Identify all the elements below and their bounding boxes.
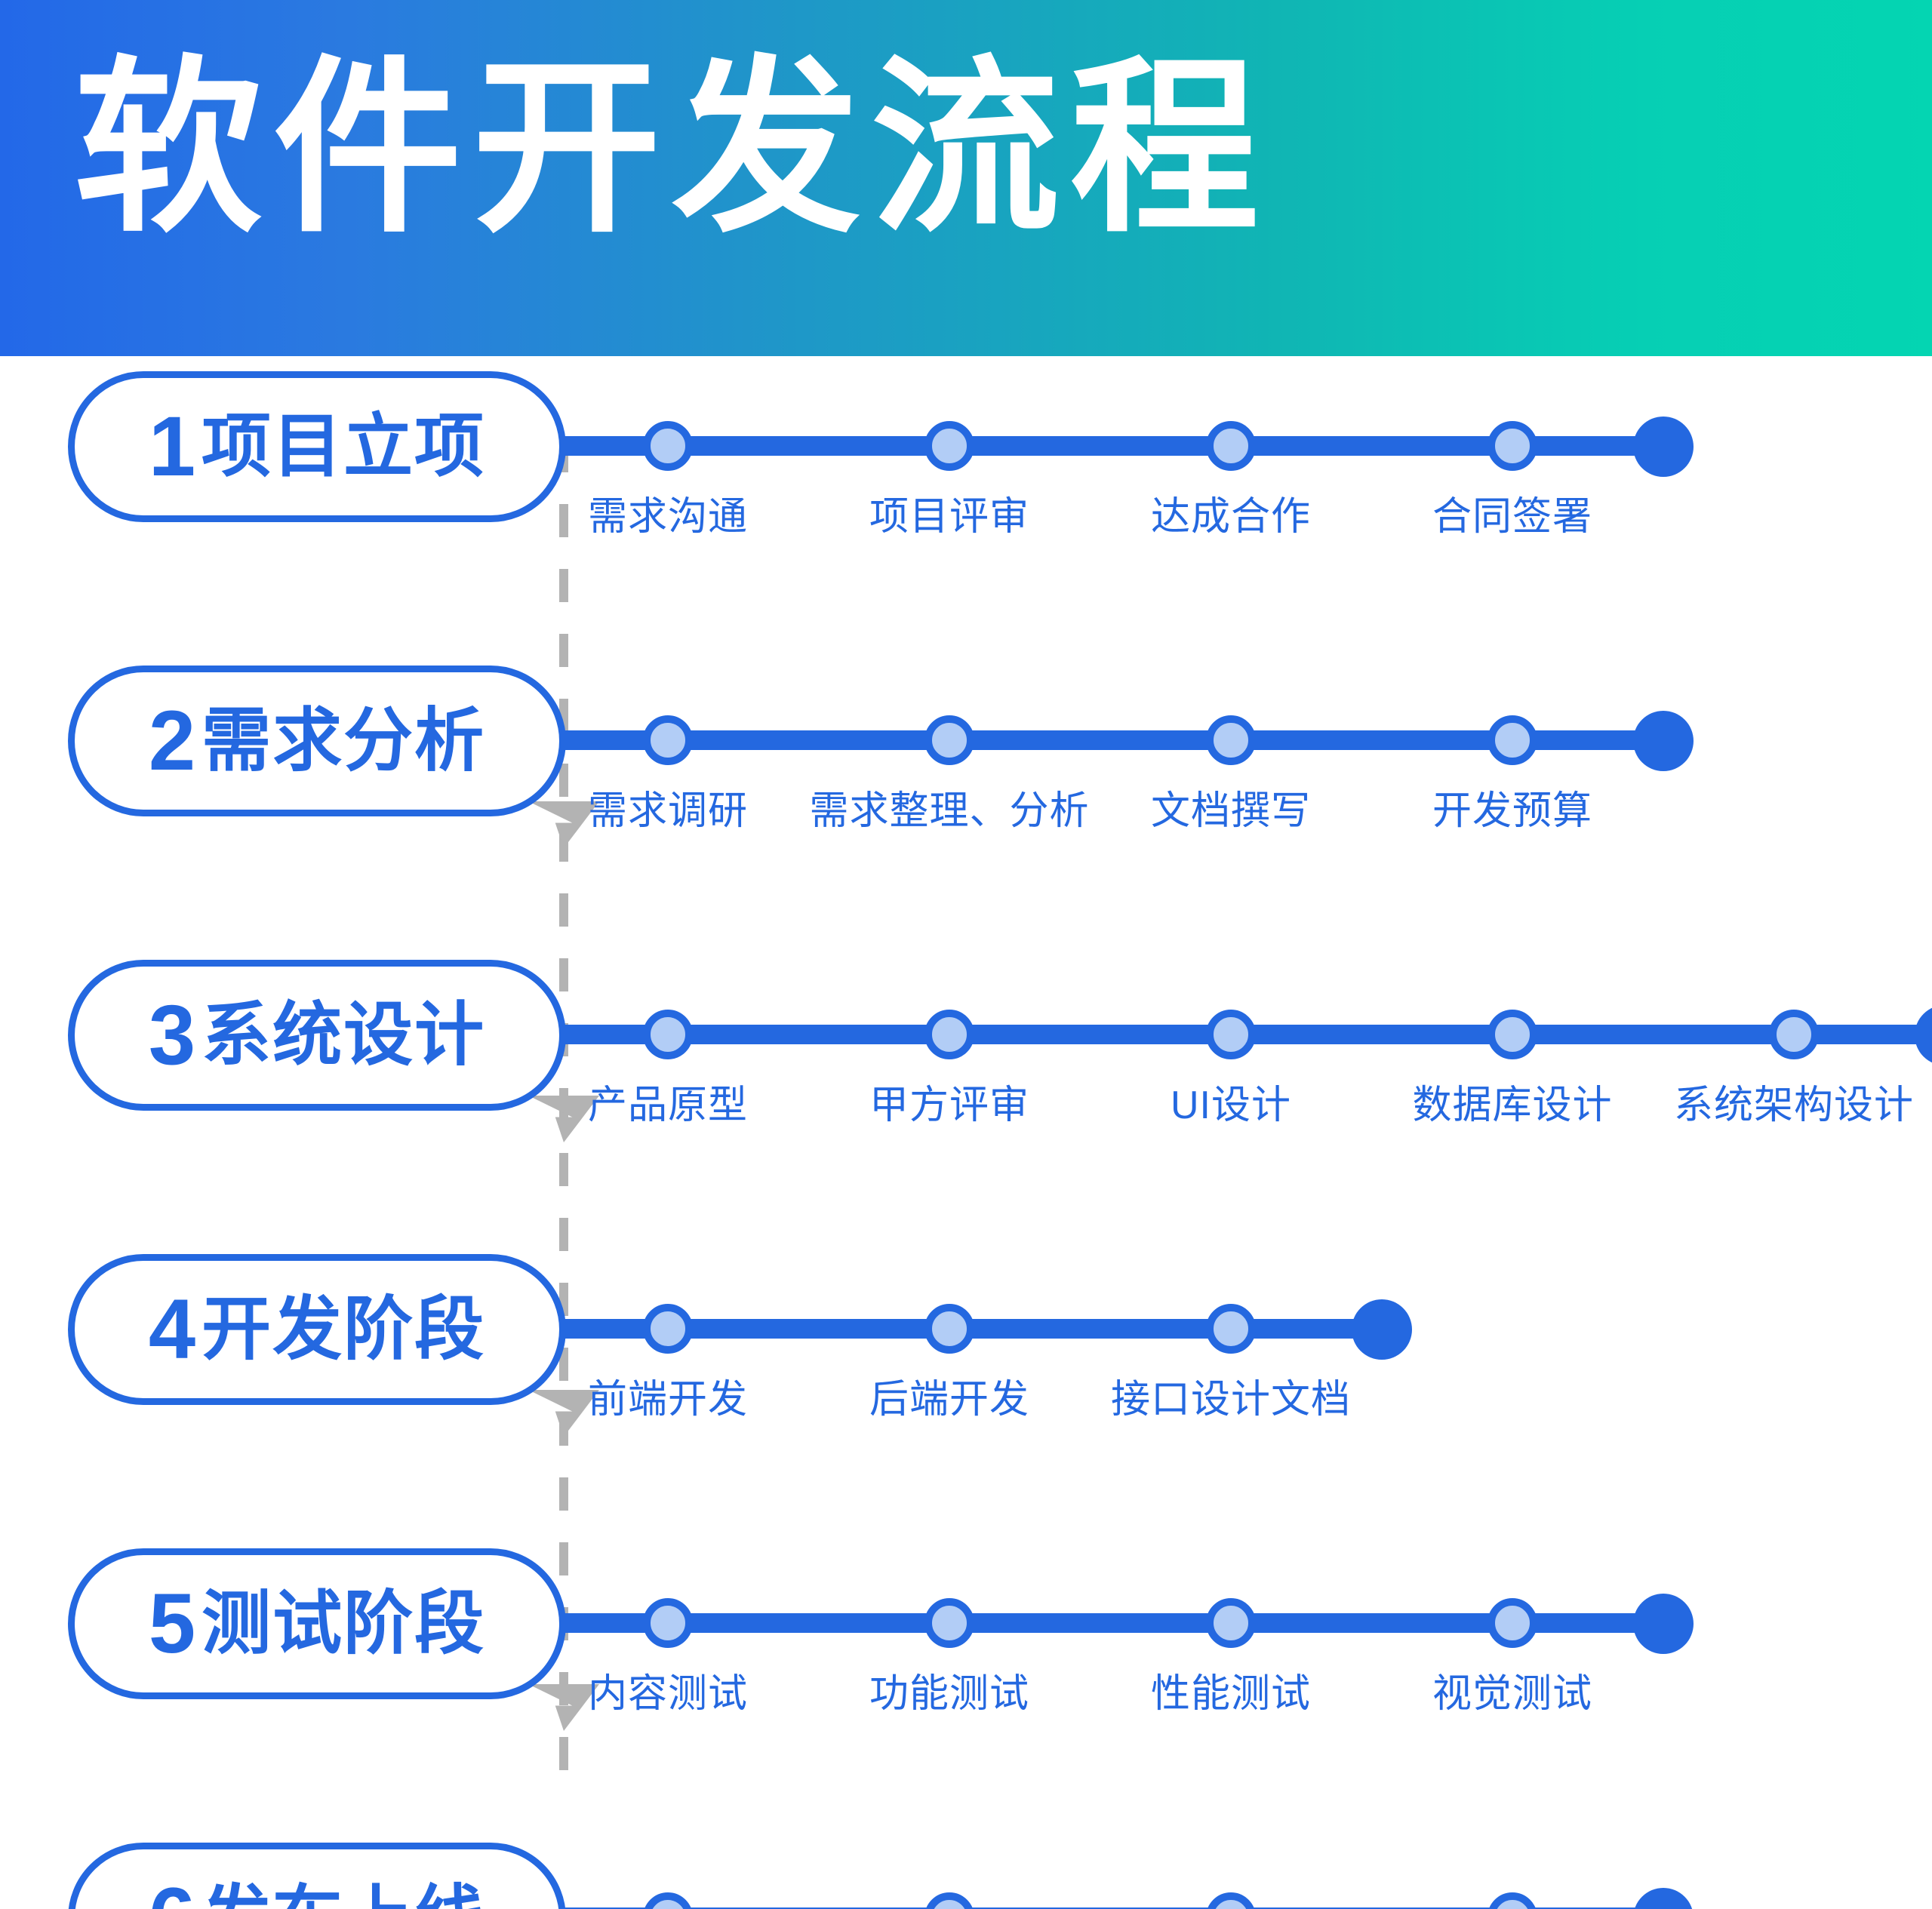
stage-pill-5[interactable]: 5测试阶段: [68, 1548, 566, 1699]
stage-pill-3[interactable]: 3系统设计: [68, 960, 566, 1111]
stage-number: 6: [149, 1876, 195, 1909]
stage-pill-4[interactable]: 4开发阶段: [68, 1254, 566, 1405]
step-label: 需求沟通: [588, 484, 748, 541]
step-node[interactable]: [1206, 1304, 1256, 1354]
step-node[interactable]: [643, 1892, 693, 1909]
track-end-node[interactable]: [1633, 417, 1694, 477]
step-label: 视觉测试: [1432, 1662, 1592, 1718]
step-node[interactable]: [1487, 1598, 1537, 1648]
step-label: 性能测试: [1151, 1662, 1311, 1718]
step-label: 需求整理、分析: [809, 779, 1089, 835]
header-banner: 软件开发流程: [0, 0, 1932, 356]
stage-pill-6[interactable]: 6发布上线: [68, 1843, 566, 1909]
stage-number: 1: [149, 404, 195, 489]
track-end-node[interactable]: [1352, 1299, 1412, 1360]
stage-label: 需求分析: [202, 706, 485, 776]
step-label: 产品原型: [588, 1073, 748, 1130]
page-title: 软件开发流程: [74, 32, 1269, 266]
track-end-node[interactable]: [1915, 1005, 1932, 1065]
step-label: 系统架构设计: [1674, 1073, 1914, 1130]
step-label: 需求调研: [588, 779, 748, 835]
stage-pill-2[interactable]: 2需求分析: [68, 666, 566, 816]
stage-track: 需求沟通项目评审达成合作合同签署: [528, 371, 1709, 522]
step-node[interactable]: [1487, 715, 1537, 765]
step-node[interactable]: [1206, 1010, 1256, 1059]
infographic-page: 软件开发流程 1项目立项需求沟通项目评审达成合作合同签署2需求分析需求调研需求整…: [0, 0, 1932, 1909]
step-node[interactable]: [643, 1598, 693, 1648]
step-label: 甲方评审: [869, 1073, 1029, 1130]
step-label: 项目评审: [869, 484, 1029, 541]
step-label: 前端开发: [588, 1367, 748, 1424]
track-end-node[interactable]: [1633, 711, 1694, 771]
stage-number: 2: [149, 699, 195, 783]
step-node[interactable]: [1487, 1892, 1537, 1909]
flow-diagram: 1项目立项需求沟通项目评审达成合作合同签署2需求分析需求调研需求整理、分析文档撰…: [0, 356, 1932, 1909]
stage-label: 系统设计: [202, 1001, 485, 1070]
step-node[interactable]: [1206, 1598, 1256, 1648]
step-node[interactable]: [643, 421, 693, 471]
step-node[interactable]: [1206, 421, 1256, 471]
step-node[interactable]: [643, 715, 693, 765]
stage-number: 3: [149, 993, 195, 1077]
stage-number: 4: [149, 1287, 195, 1372]
step-label: 内容测试: [588, 1662, 748, 1718]
stage-track: 产品原型甲方评审UI设计数据库设计系统架构设计: [528, 960, 1932, 1111]
stage-track: 前端开发后端开发接口设计文档: [528, 1254, 1427, 1405]
stage-label: 发布上线: [202, 1883, 485, 1909]
stage-row[interactable]: 4开发阶段前端开发后端开发接口设计文档: [0, 1254, 1932, 1405]
stage-pill-1[interactable]: 1项目立项: [68, 371, 566, 522]
step-node[interactable]: [924, 1892, 974, 1909]
step-node[interactable]: [643, 1304, 693, 1354]
stage-label: 开发阶段: [202, 1295, 485, 1364]
step-node[interactable]: [924, 421, 974, 471]
track-end-node[interactable]: [1633, 1594, 1694, 1654]
stage-label: 项目立项: [202, 412, 485, 481]
step-label: 合同签署: [1432, 484, 1592, 541]
step-label: 接口设计文档: [1111, 1367, 1351, 1424]
step-label: 功能测试: [869, 1662, 1029, 1718]
step-label: UI设计: [1171, 1073, 1291, 1130]
step-label: 达成合作: [1151, 484, 1311, 541]
stage-track: 需求调研需求整理、分析文档撰写开发预算: [528, 666, 1709, 816]
stage-track: 内容测试功能测试性能测试视觉测试: [528, 1548, 1709, 1699]
stage-track: 操作培训试运营正式上线售后维护: [528, 1843, 1709, 1909]
stage-row[interactable]: 3系统设计产品原型甲方评审UI设计数据库设计系统架构设计: [0, 960, 1932, 1111]
step-node[interactable]: [1487, 421, 1537, 471]
step-label: 后端开发: [869, 1367, 1029, 1424]
step-node[interactable]: [924, 1010, 974, 1059]
step-node[interactable]: [1487, 1010, 1537, 1059]
step-node[interactable]: [924, 1598, 974, 1648]
stage-number: 5: [149, 1582, 195, 1666]
stage-row[interactable]: 2需求分析需求调研需求整理、分析文档撰写开发预算: [0, 666, 1932, 816]
step-label: 数据库设计: [1412, 1073, 1612, 1130]
step-label: 文档撰写: [1151, 779, 1311, 835]
step-node[interactable]: [924, 1304, 974, 1354]
stage-label: 测试阶段: [202, 1589, 485, 1658]
step-node[interactable]: [1206, 1892, 1256, 1909]
stage-row[interactable]: 6发布上线操作培训试运营正式上线售后维护: [0, 1843, 1932, 1909]
step-node[interactable]: [1206, 715, 1256, 765]
step-node[interactable]: [924, 715, 974, 765]
stage-row[interactable]: 5测试阶段内容测试功能测试性能测试视觉测试: [0, 1548, 1932, 1699]
step-node[interactable]: [1769, 1010, 1819, 1059]
step-node[interactable]: [643, 1010, 693, 1059]
stage-row[interactable]: 1项目立项需求沟通项目评审达成合作合同签署: [0, 371, 1932, 522]
step-label: 开发预算: [1432, 779, 1592, 835]
track-end-node[interactable]: [1633, 1888, 1694, 1909]
